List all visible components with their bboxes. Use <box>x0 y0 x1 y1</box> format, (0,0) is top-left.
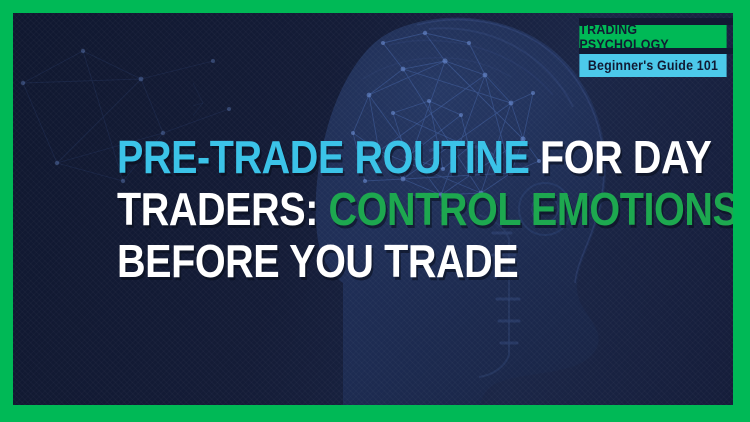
thumbnail-canvas: TRADING PSYCHOLOGY Beginner's Guide 101 … <box>0 0 750 422</box>
level-badge-label: Beginner's Guide 101 <box>579 54 726 77</box>
headline-line-2: TRADERS: CONTROL EMOTIONS <box>117 183 616 235</box>
headline-line-2-accent: CONTROL EMOTIONS <box>329 183 733 235</box>
headline-line-1: PRE-TRADE ROUTINE FOR DAY <box>117 131 616 183</box>
headline: PRE-TRADE ROUTINE FOR DAY TRADERS: CONTR… <box>117 131 697 287</box>
level-badge: Beginner's Guide 101 <box>573 54 733 77</box>
category-badge: TRADING PSYCHOLOGY <box>573 25 733 48</box>
badge-stack: TRADING PSYCHOLOGY Beginner's Guide 101 <box>573 18 733 77</box>
headline-line-2-plain: TRADERS: <box>117 183 329 235</box>
inner-dark-canvas: TRADING PSYCHOLOGY Beginner's Guide 101 … <box>13 13 733 405</box>
category-badge-label: TRADING PSYCHOLOGY <box>579 25 726 48</box>
headline-line-3: BEFORE YOU TRADE <box>117 235 616 287</box>
headline-line-1-plain: FOR DAY <box>529 131 711 183</box>
headline-line-3-plain: BEFORE YOU TRADE <box>117 235 518 287</box>
headline-line-1-accent: PRE-TRADE ROUTINE <box>117 131 529 183</box>
